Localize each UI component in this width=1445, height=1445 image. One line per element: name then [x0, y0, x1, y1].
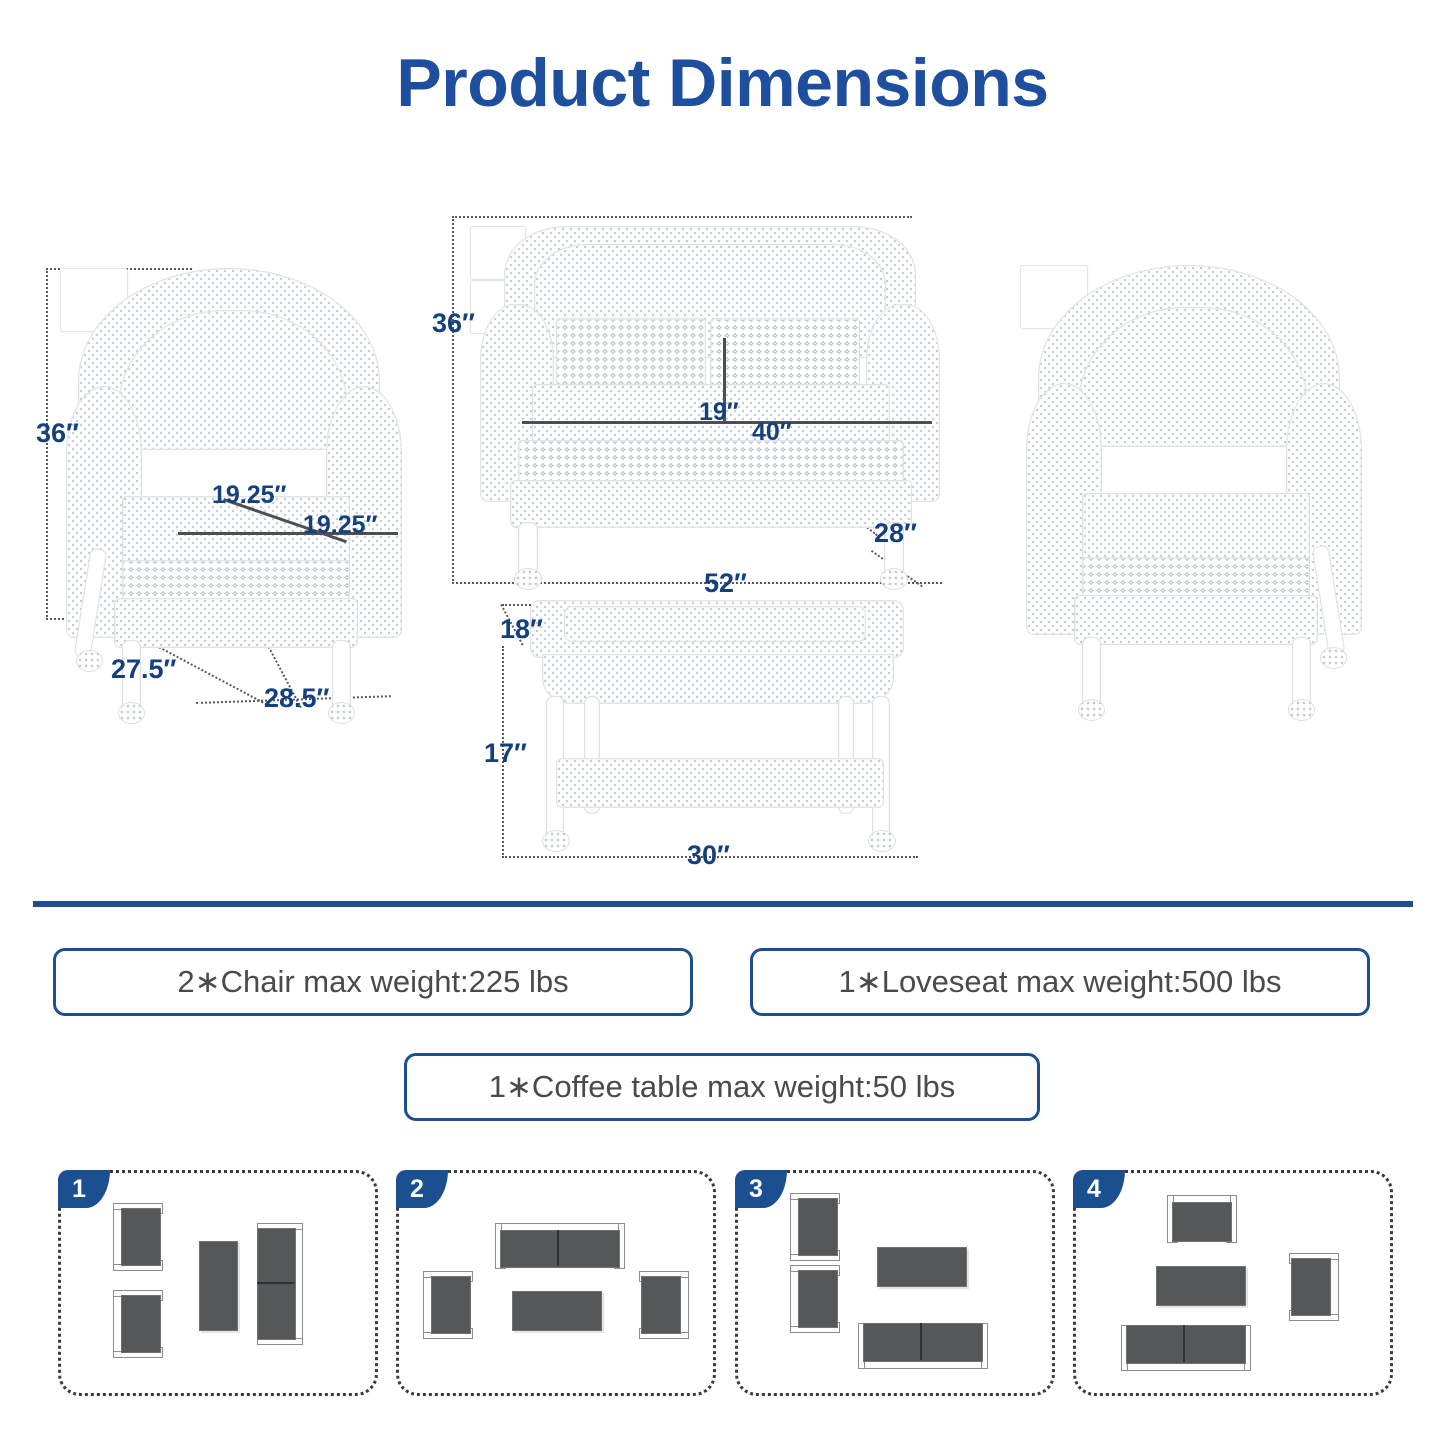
panel3-coffee-table: [877, 1247, 965, 1285]
panel2-coffee-table: [512, 1291, 600, 1329]
chair-right-leg-front-right: [1292, 637, 1311, 707]
chair-right-illustration: [1020, 265, 1365, 665]
loveseat-depth-label: 28″: [874, 518, 917, 549]
chair-depth-label: 27.5″: [111, 654, 176, 685]
loveseat-seat-width-label: 40″: [752, 418, 792, 447]
loveseat-width-label: 52″: [704, 568, 747, 599]
loveseat-height-guide: [452, 216, 454, 584]
chair-seat-width-label: 19.25″: [303, 511, 378, 540]
chair-foot-front-left: [118, 702, 145, 724]
layout-panel-1[interactable]: 1: [58, 1170, 378, 1396]
chair-right-seat: [1082, 493, 1310, 563]
weight-limit-chair-label: 2∗Chair max weight:225 lbs: [177, 964, 568, 1000]
chair-leg-front-right: [332, 640, 351, 710]
panel3-chair-b: [790, 1265, 838, 1331]
panel1-chair-a: [113, 1203, 161, 1269]
chair-height-label: 36″: [36, 418, 79, 449]
chair-foot-front-right: [328, 702, 355, 724]
loveseat-apron: [510, 480, 912, 528]
table-depth-label: 18″: [500, 614, 543, 645]
layout-panel-4-badge: 4: [1073, 1170, 1125, 1208]
chair-width-label: 28.5″: [264, 683, 329, 714]
weight-limit-coffee-table-label: 1∗Coffee table max weight:50 lbs: [489, 1069, 956, 1105]
table-lower-shelf: [556, 758, 884, 808]
panel4-chair-right: [1289, 1253, 1337, 1319]
panel2-chair-left: [423, 1271, 471, 1337]
table-foot-front-right: [868, 830, 896, 852]
loveseat-back-lattice-right: [710, 318, 860, 390]
panel1-chair-b: [113, 1290, 161, 1356]
coffee-table-body: [520, 600, 920, 860]
layout-panel-2-badge: 2: [396, 1170, 448, 1208]
panel4-chair-top: [1167, 1195, 1235, 1241]
section-divider: [33, 901, 1413, 907]
loveseat-height-label: 36″: [432, 308, 475, 339]
layout-panel-3[interactable]: 3: [735, 1170, 1055, 1396]
loveseat-seat-height-label: 19″: [699, 398, 739, 427]
table-foot-front-left: [542, 830, 570, 852]
chair-seat-depth-label: 19.25″: [212, 481, 287, 510]
weight-limit-loveseat-label: 1∗Loveseat max weight:500 lbs: [838, 964, 1281, 1000]
table-width-label: 30″: [687, 840, 730, 871]
chair-foot-back-left: [76, 650, 103, 672]
chair-right-leg-front-left: [1082, 637, 1101, 707]
chair-right-apron: [1074, 595, 1318, 645]
page-title: Product Dimensions: [0, 44, 1445, 122]
layout-panel-4[interactable]: 4: [1073, 1170, 1393, 1396]
table-top-inset: [564, 606, 866, 642]
table-height-label: 17″: [484, 738, 527, 769]
loveseat-foot-front-right: [880, 568, 908, 590]
panel1-loveseat: [257, 1223, 301, 1343]
loveseat-top-guide: [452, 216, 912, 218]
chair-right-foot-front-right: [1288, 699, 1315, 721]
chair-apron: [114, 598, 358, 648]
layout-panel-2[interactable]: 2: [396, 1170, 716, 1396]
dimension-diagram: 36″ 19.25″ 19.25″ 27.5″ 28.5″: [0, 160, 1445, 880]
loveseat-back-lattice-left: [556, 318, 706, 390]
loveseat-foot-front-left: [514, 568, 542, 590]
weight-limit-coffee-table: 1∗Coffee table max weight:50 lbs: [404, 1053, 1040, 1121]
panel1-coffee-table: [199, 1241, 236, 1329]
layout-panel-3-badge: 3: [735, 1170, 787, 1208]
weight-limit-chair: 2∗Chair max weight:225 lbs: [53, 948, 693, 1016]
product-dimensions-infographic: Product Dimensions: [0, 0, 1445, 1445]
panel3-loveseat: [858, 1323, 986, 1367]
panel2-loveseat: [495, 1223, 623, 1267]
panel4-loveseat: [1121, 1325, 1249, 1369]
panel2-chair-right: [639, 1271, 687, 1337]
chair-right-foot-front-left: [1078, 699, 1105, 721]
panel3-chair-a: [790, 1193, 838, 1259]
panel4-coffee-table: [1156, 1266, 1244, 1304]
weight-limit-loveseat: 1∗Loveseat max weight:500 lbs: [750, 948, 1370, 1016]
chair-right-foot-back-right: [1320, 647, 1347, 669]
layout-panel-1-badge: 1: [58, 1170, 110, 1208]
chair-left-body: [60, 268, 405, 658]
